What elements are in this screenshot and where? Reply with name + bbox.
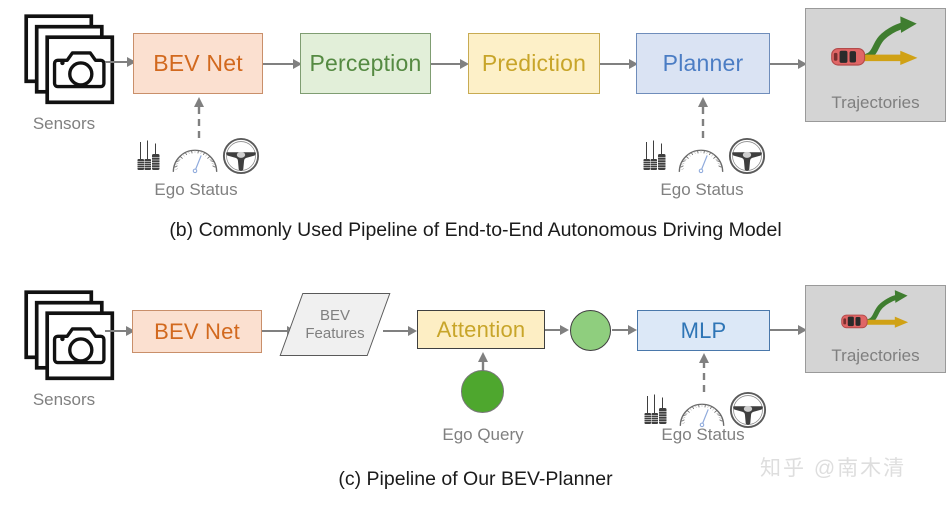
ego-status-label-b-1: Ego Status [126, 180, 266, 200]
figure-canvas: Sensors BEV Net Perception Prediction Pl… [0, 0, 951, 506]
arrow-perception-prediction-b [431, 57, 470, 71]
arrow-prediction-planner-b [600, 57, 639, 71]
block-attention-c[interactable]: Attention [417, 310, 545, 349]
block-bev-net-b[interactable]: BEV Net [133, 33, 263, 94]
block-label: Planner [663, 50, 744, 77]
output-panel-c: Trajectories [805, 285, 946, 373]
ego-status-label-b-2: Ego Status [632, 180, 772, 200]
ego-status-icons-b-1 [136, 133, 256, 176]
output-label-c: Trajectories [806, 346, 945, 366]
sensors-label-b: Sensors [10, 114, 118, 134]
bev-features-label: BEV Features [285, 293, 385, 356]
arrow-token-mlp-c [612, 323, 638, 337]
arrow-ego-status-planner-b [696, 96, 710, 138]
block-prediction-b[interactable]: Prediction [468, 33, 600, 94]
arrow-bevnet-perception-b [263, 57, 303, 71]
trajectory-illustration-b [812, 15, 940, 95]
arrow-attention-token-c [545, 323, 570, 337]
ego-query-label-c: Ego Query [413, 425, 553, 445]
bev-features-line1: BEV [320, 307, 350, 324]
caption-b: (b) Commonly Used Pipeline of End-to-End… [0, 219, 951, 242]
ego-status-label-c: Ego Status [633, 425, 773, 445]
output-panel-b: Trajectories [805, 8, 946, 122]
ego-status-icons-b-2 [642, 133, 762, 176]
arrow-features-attention-c [383, 324, 418, 338]
block-label: Prediction [482, 50, 586, 77]
block-label: Attention [437, 317, 526, 343]
watermark: 知乎 @南木清 [760, 452, 906, 482]
output-label-b: Trajectories [806, 93, 945, 113]
ego-query-circle-c[interactable] [461, 370, 504, 413]
sensors-label-c: Sensors [10, 390, 118, 410]
block-label: BEV Net [153, 50, 243, 77]
arrow-mlp-output-c [770, 323, 808, 337]
sensors-icon-b [10, 12, 118, 117]
block-planner-b[interactable]: Planner [636, 33, 770, 94]
block-bev-net-c[interactable]: BEV Net [132, 310, 262, 353]
block-mlp-c[interactable]: MLP [637, 310, 770, 351]
block-perception-b[interactable]: Perception [300, 33, 431, 94]
block-label: Perception [310, 50, 422, 77]
trajectory-illustration-c [812, 289, 940, 351]
block-label: BEV Net [154, 319, 240, 345]
arrow-ego-status-bevnet-b [192, 96, 206, 138]
block-label: MLP [681, 318, 727, 344]
arrow-ego-status-mlp-c [697, 352, 711, 392]
sensors-icon-c [10, 288, 118, 393]
ego-status-icons-c [643, 387, 763, 430]
arrow-planner-output-b [770, 57, 808, 71]
token-circle-c[interactable] [570, 310, 611, 351]
bev-features-line2: Features [305, 325, 364, 342]
